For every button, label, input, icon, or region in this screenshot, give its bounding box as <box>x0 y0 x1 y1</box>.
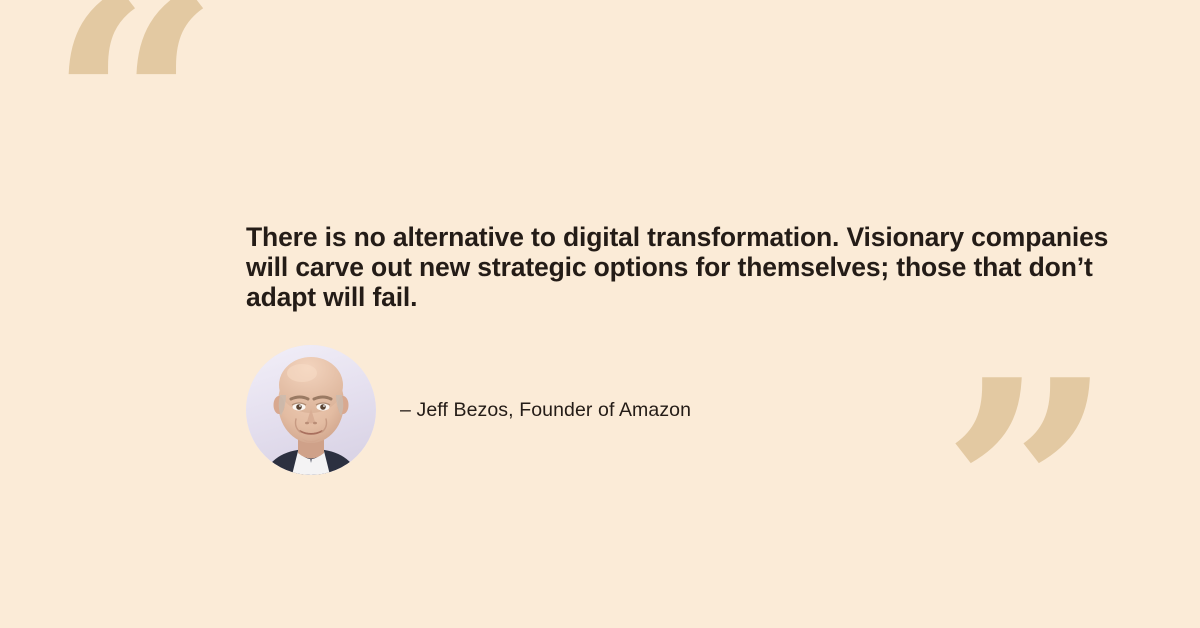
attribution-text: – Jeff Bezos, Founder of Amazon <box>400 399 691 422</box>
quote-content: There is no alternative to digital trans… <box>246 222 1132 475</box>
quote-text: There is no alternative to digital trans… <box>246 222 1126 312</box>
open-quote-icon: “ <box>48 0 223 256</box>
avatar <box>246 345 376 475</box>
attribution-row: – Jeff Bezos, Founder of Amazon <box>246 345 1132 475</box>
quote-card: “ ” There is no alternative to digital t… <box>0 0 1200 628</box>
